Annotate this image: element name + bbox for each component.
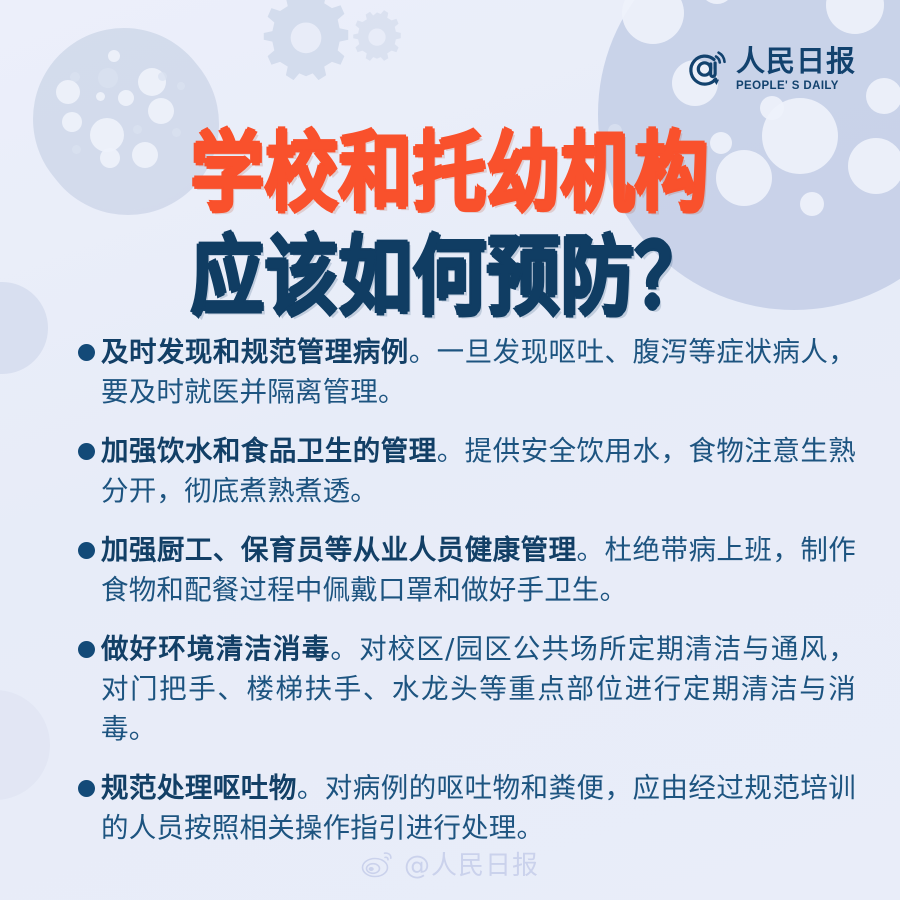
germ-bubble (98, 68, 118, 88)
germ-bubble (826, 0, 884, 34)
germ-bubble (108, 50, 120, 62)
germ-bubble (118, 90, 134, 106)
list-item: 加强饮水和食品卫生的管理。提供安全饮用水，食物注意生熟分开，彻底煮熟煮透。 (78, 431, 856, 511)
list-item-lead: 做好环境清洁消毒 (101, 633, 330, 665)
germ-bubble (158, 72, 167, 81)
bullet-dot-icon (78, 780, 95, 797)
list-item-lead: 及时发现和规范管理病例 (101, 336, 409, 368)
peoples-daily-logo: 人民日报 PEOPLE' S DAILY (684, 46, 856, 93)
germ-bubble-bottom-left (0, 690, 50, 800)
weibo-handle: @人民日报 (404, 845, 539, 882)
headline-line-2: 应该如何预防？ (0, 230, 900, 326)
list-item-text: 加强厨工、保育员等从业人员健康管理。杜绝带病上班，制作食物和配餐过程中佩戴口罩和… (101, 530, 856, 610)
bullet-dot-icon (78, 542, 95, 559)
bullet-dot-icon (78, 443, 95, 460)
logo-name-en: PEOPLE' S DAILY (736, 81, 839, 93)
at-signal-icon (684, 46, 730, 92)
advice-list: 及时发现和规范管理病例。一旦发现呕吐、腹泻等症状病人，要及时就医并隔离管理。 加… (78, 332, 856, 867)
germ-bubble (138, 68, 166, 96)
weibo-watermark: @人民日报 (0, 845, 900, 882)
weibo-icon (361, 850, 395, 878)
gear-icon (258, 0, 354, 82)
list-item-lead: 规范处理呕吐物 (101, 772, 297, 804)
germ-bubble (56, 80, 80, 104)
poster-canvas: 人民日报 PEOPLE' S DAILY 学校和托幼机构 应该如何预防？ 及时发… (0, 0, 900, 900)
logo-name-cn: 人民日报 (736, 48, 856, 77)
poster-headline: 学校和托幼机构 应该如何预防？ (0, 126, 900, 312)
germ-bubble (177, 82, 185, 90)
germ-bubble (760, 96, 784, 120)
list-item-lead: 加强饮水和食品卫生的管理 (101, 435, 437, 467)
bullet-dot-icon (78, 641, 95, 658)
list-item-text: 及时发现和规范管理病例。一旦发现呕吐、腹泻等症状病人，要及时就医并隔离管理。 (101, 332, 856, 412)
germ-bubble (700, 0, 734, 4)
gear-small-icon (350, 8, 404, 62)
list-item-lead: 加强厨工、保育员等从业人员健康管理 (101, 534, 577, 566)
list-item: 加强厨工、保育员等从业人员健康管理。杜绝带病上班，制作食物和配餐过程中佩戴口罩和… (78, 530, 856, 610)
headline-line-1: 学校和托幼机构 (0, 126, 900, 222)
list-item-text: 规范处理呕吐物。对病例的呕吐物和粪便，应由经过规范培训的人员按照相关操作指引进行… (101, 768, 856, 848)
list-item: 规范处理呕吐物。对病例的呕吐物和粪便，应由经过规范培训的人员按照相关操作指引进行… (78, 768, 856, 848)
germ-bubble (70, 72, 80, 82)
germ-bubble (622, 0, 684, 44)
list-item: 做好环境清洁消毒。对校区/园区公共场所定期清洁与通风，对门把手、楼梯扶手、水龙头… (78, 629, 856, 749)
bullet-dot-icon (78, 344, 95, 361)
germ-bubble (866, 78, 900, 114)
list-item-text: 加强饮水和食品卫生的管理。提供安全饮用水，食物注意生熟分开，彻底煮熟煮透。 (101, 431, 856, 511)
germ-bubble (148, 98, 174, 124)
list-item: 及时发现和规范管理病例。一旦发现呕吐、腹泻等症状病人，要及时就医并隔离管理。 (78, 332, 856, 412)
logo-wordmark: 人民日报 PEOPLE' S DAILY (736, 46, 856, 93)
list-item-text: 做好环境清洁消毒。对校区/园区公共场所定期清洁与通风，对门把手、楼梯扶手、水龙头… (101, 629, 856, 749)
germ-bubble (96, 92, 105, 101)
